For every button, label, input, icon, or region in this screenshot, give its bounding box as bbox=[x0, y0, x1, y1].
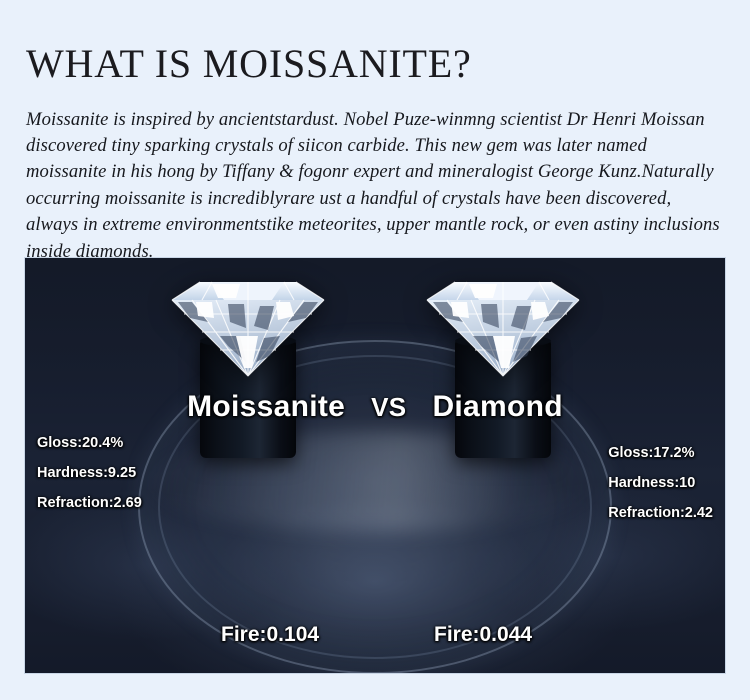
moissanite-vs-diamond-image: Moissanite VS Diamond Gloss:20.4% Hardne… bbox=[25, 258, 725, 673]
moissanite-refraction: Refraction:2.69 bbox=[37, 488, 142, 518]
diamond-gem-icon bbox=[423, 276, 583, 380]
moissanite-label: Moissanite bbox=[187, 390, 345, 424]
page-title: WHAT IS MOISSANITE? bbox=[26, 43, 472, 85]
diamond-spec-list: Gloss:17.2% Hardness:10 Refraction:2.42 bbox=[608, 438, 713, 528]
moissanite-fire-value: Fire:0.104 bbox=[221, 623, 319, 647]
moissanite-hardness: Hardness:9.25 bbox=[37, 458, 142, 488]
diamond-refraction: Refraction:2.42 bbox=[608, 498, 713, 528]
comparison-headline: Moissanite VS Diamond bbox=[25, 390, 725, 424]
moissanite-spec-list: Gloss:20.4% Hardness:9.25 Refraction:2.6… bbox=[37, 428, 142, 518]
diamond-fire-value: Fire:0.044 bbox=[434, 623, 532, 647]
diamond-hardness: Hardness:10 bbox=[608, 468, 713, 498]
moissanite-gloss: Gloss:20.4% bbox=[37, 428, 142, 458]
article-body-text: Moissanite is inspired by ancientstardus… bbox=[26, 107, 726, 265]
diamond-label: Diamond bbox=[432, 390, 562, 424]
diamond-gloss: Gloss:17.2% bbox=[608, 438, 713, 468]
vs-label: VS bbox=[371, 392, 406, 423]
article-page: WHAT IS MOISSANITE? Moissanite is inspir… bbox=[0, 0, 750, 700]
moissanite-gem-icon bbox=[168, 276, 328, 380]
